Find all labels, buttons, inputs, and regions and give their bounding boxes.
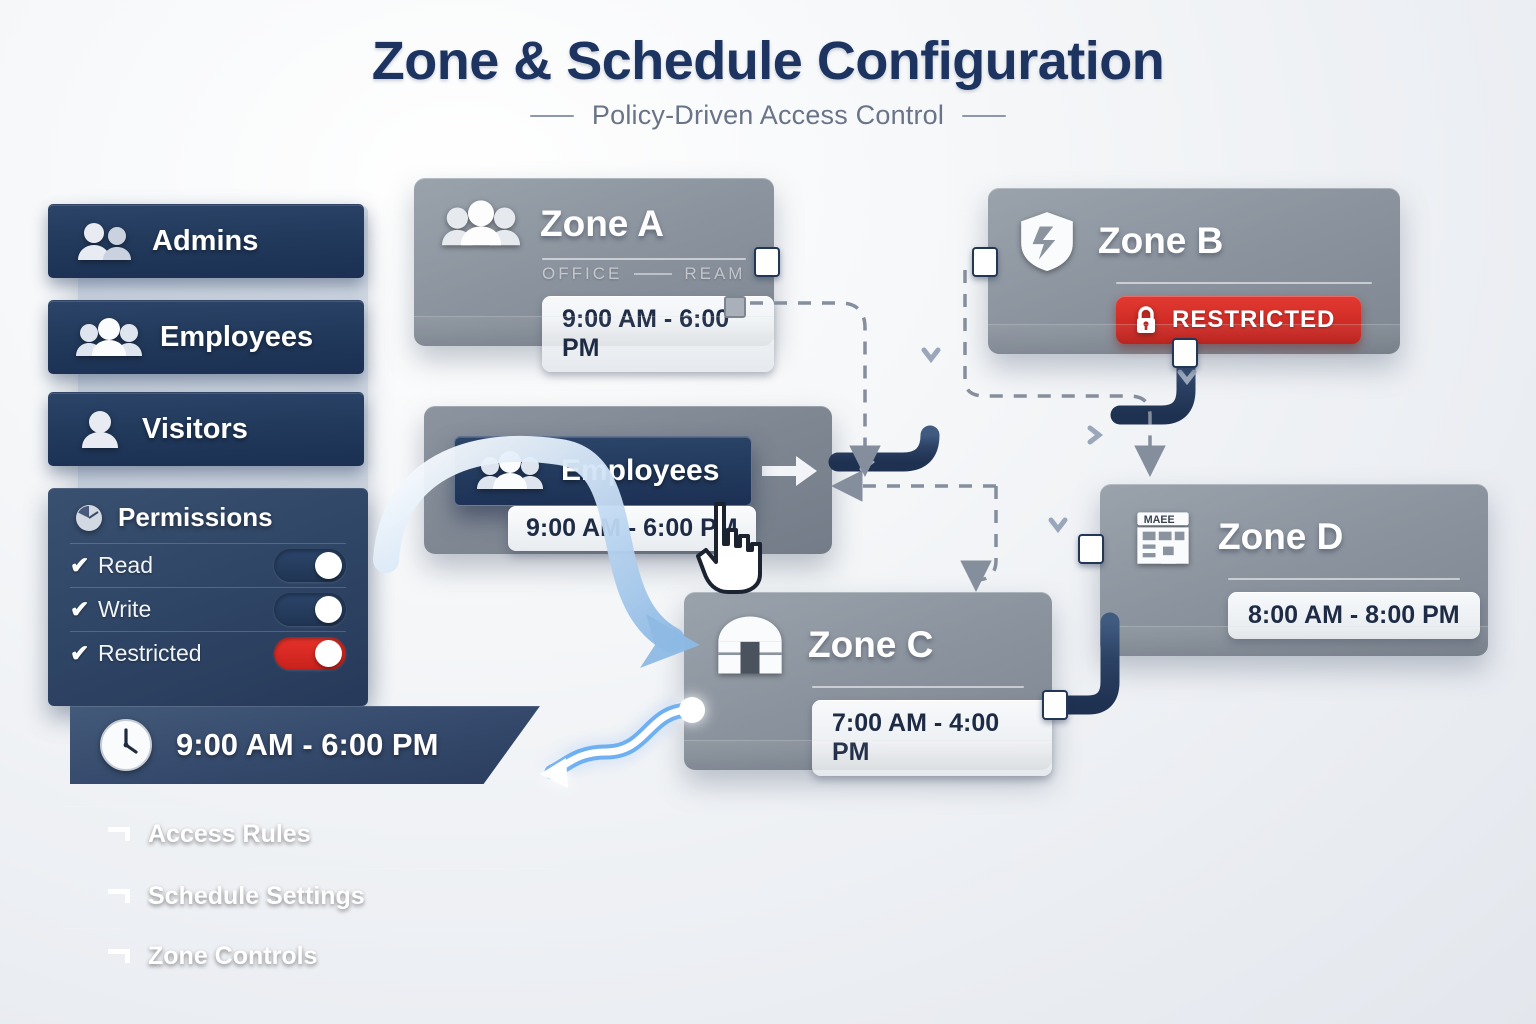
warehouse-icon xyxy=(712,614,788,676)
sidebar-item-label: Visitors xyxy=(142,413,248,446)
connector-small-node-zone-a[interactable] xyxy=(724,296,746,318)
clock-pie-icon xyxy=(74,503,104,533)
clock-icon xyxy=(98,717,154,773)
permissions-header: Permissions xyxy=(48,488,368,543)
office-building-icon: MAEE xyxy=(1128,506,1198,568)
subtitle-rule-left xyxy=(530,115,574,117)
connector-endpoint-zone-b-bottom[interactable] xyxy=(1172,338,1198,368)
users-two-icon xyxy=(76,222,134,262)
sidebar-item-zone-controls[interactable]: Zone Controls xyxy=(62,928,542,984)
schedule-time-bar[interactable]: 9:00 AM - 6:00 PM xyxy=(70,706,540,784)
zone-a-sublabel: OFFICE REAM xyxy=(542,264,746,284)
zone-b-name: Zone B xyxy=(1098,220,1223,262)
stack-item-label: Schedule Settings xyxy=(148,882,365,911)
permission-row-restricted[interactable]: ✔ Restricted xyxy=(70,631,346,675)
permission-label: Read xyxy=(98,552,153,579)
zone-a-name: Zone A xyxy=(540,203,664,245)
zone-a-sublabel-right: REAM xyxy=(684,264,745,284)
zone-d-footer xyxy=(1100,626,1488,656)
sidebar-item-employees[interactable]: Employees xyxy=(48,300,364,374)
zone-c-header: Zone C xyxy=(684,592,1052,676)
zone-b-header: Zone B xyxy=(988,188,1400,272)
svg-text:MAEE: MAEE xyxy=(1144,514,1175,526)
permission-label: Restricted xyxy=(98,640,202,667)
permissions-title: Permissions xyxy=(118,502,273,533)
zone-c-footer xyxy=(684,740,1052,770)
connector-endpoint-zone-c-right[interactable] xyxy=(1042,690,1068,720)
connector-endpoint-zone-a[interactable] xyxy=(754,247,780,277)
arrow-right-icon xyxy=(762,454,818,493)
diagram-canvas: Zone & Schedule Configuration Policy-Dri… xyxy=(0,0,1536,1024)
zone-a-divider xyxy=(542,258,746,260)
corner-icon xyxy=(108,949,130,963)
permission-row-read[interactable]: ✔ Read xyxy=(70,543,346,587)
permission-label: Write xyxy=(98,596,151,623)
shield-icon xyxy=(1016,210,1078,272)
users-three-icon xyxy=(442,200,520,248)
sidebar-item-label: Admins xyxy=(152,225,258,258)
toggle-knob xyxy=(315,596,342,623)
stack-item-label: Access Rules xyxy=(148,820,311,849)
schedule-time-label: 9:00 AM - 6:00 PM xyxy=(176,727,438,763)
checkmark-icon: ✔ xyxy=(70,552,98,579)
subtitle-rule-right xyxy=(962,115,1006,117)
corner-icon xyxy=(108,889,130,903)
zone-card-b[interactable]: Zone B RESTRICTED xyxy=(988,188,1400,354)
page-subtitle-group: Policy-Driven Access Control xyxy=(0,100,1536,131)
sidebar-item-label: Employees xyxy=(160,321,313,354)
checkmark-icon: ✔ xyxy=(70,640,98,667)
checkmark-icon: ✔ xyxy=(70,596,98,623)
drag-chip-employees[interactable]: Employees xyxy=(454,436,752,506)
sidebar-item-visitors[interactable]: Visitors xyxy=(48,392,364,466)
hand-pointer-cursor xyxy=(694,500,770,601)
zone-card-c[interactable]: Zone C 7:00 AM - 4:00 PM xyxy=(684,592,1052,770)
sidebar-item-schedule-settings[interactable]: Schedule Settings xyxy=(62,868,562,924)
toggle-restricted[interactable] xyxy=(274,637,346,670)
connector-endpoint-zone-b-left[interactable] xyxy=(972,247,998,277)
zone-card-d[interactable]: MAEE Zone D 8:00 AM - 8:00 PM xyxy=(1100,484,1488,656)
zone-a-footer xyxy=(414,316,774,346)
corner-icon xyxy=(108,827,130,841)
zone-c-name: Zone C xyxy=(808,624,933,666)
toggle-write[interactable] xyxy=(274,593,346,626)
toggle-read[interactable] xyxy=(274,549,346,582)
page-subtitle: Policy-Driven Access Control xyxy=(592,100,944,131)
zone-d-name: Zone D xyxy=(1218,516,1343,558)
zone-b-divider xyxy=(1116,282,1372,284)
zone-card-a[interactable]: Zone A OFFICE REAM 9:00 AM - 6:00 PM xyxy=(414,178,774,346)
user-single-icon xyxy=(76,410,124,450)
users-three-icon xyxy=(477,451,543,491)
toggle-knob xyxy=(315,552,342,579)
zone-a-sublabel-dash xyxy=(634,273,672,275)
drag-chip-label: Employees xyxy=(561,454,719,488)
permissions-panel: Permissions ✔ Read ✔ Write ✔ Restricted xyxy=(48,488,368,706)
sidebar-item-admins[interactable]: Admins xyxy=(48,204,364,278)
toggle-knob xyxy=(315,640,342,667)
permission-row-write[interactable]: ✔ Write xyxy=(70,587,346,631)
zone-a-sublabel-left: OFFICE xyxy=(542,264,622,284)
users-three-icon xyxy=(76,318,142,358)
connector-endpoint-zone-d-left[interactable] xyxy=(1078,534,1104,564)
zone-c-divider xyxy=(812,686,1024,688)
page-title: Zone & Schedule Configuration xyxy=(0,30,1536,92)
zone-a-header: Zone A xyxy=(414,178,774,248)
zone-d-header: MAEE Zone D xyxy=(1100,484,1488,568)
sidebar-item-access-rules[interactable]: Access Rules xyxy=(62,806,582,862)
zone-d-divider xyxy=(1228,578,1460,580)
stack-item-label: Zone Controls xyxy=(148,942,317,971)
